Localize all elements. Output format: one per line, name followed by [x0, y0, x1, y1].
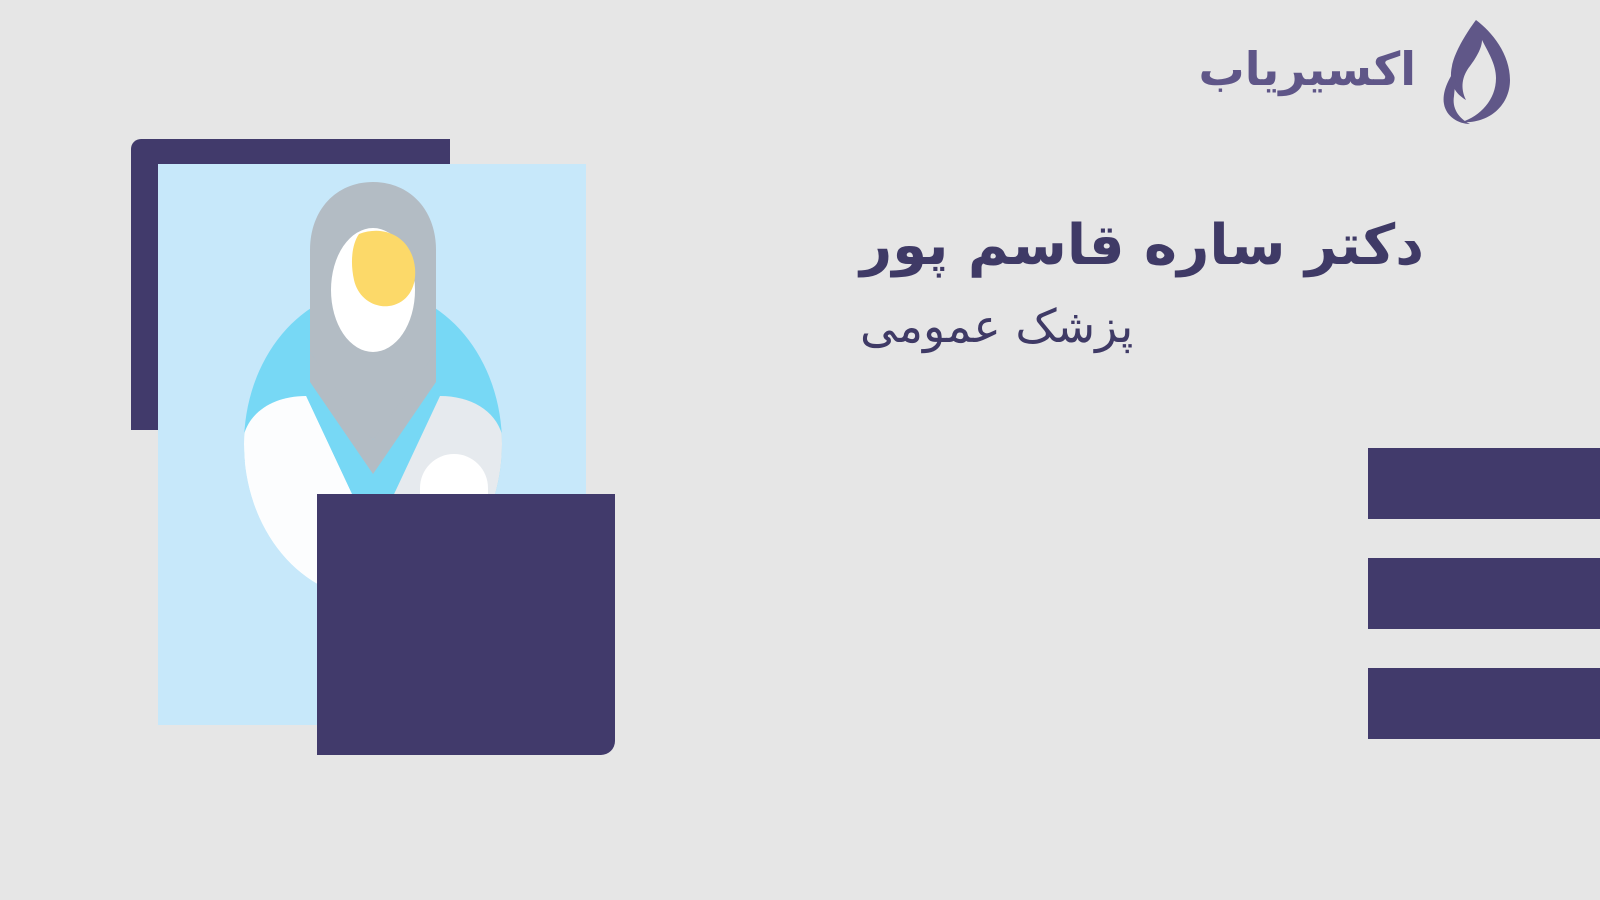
doctor-name: دکتر ساره قاسم پور — [860, 212, 1500, 280]
decorative-bar-2 — [1368, 558, 1600, 629]
banner-canvas: اکسیریاب دکتر ساره قاسم پور پزشک عمومی — [0, 0, 1600, 900]
decorative-bar-3 — [1368, 668, 1600, 739]
brand-name-text: اکسیریاب — [1199, 46, 1417, 98]
photo-composition — [0, 0, 700, 900]
brand-logo[interactable]: اکسیریاب — [1199, 18, 1513, 126]
identity-block: دکتر ساره قاسم پور پزشک عمومی — [860, 212, 1500, 356]
doctor-specialty: پزشک عمومی — [860, 298, 1500, 356]
decorative-bar-1 — [1368, 448, 1600, 519]
flame-droplet-icon — [1426, 18, 1512, 126]
frame-front-square — [317, 494, 615, 755]
